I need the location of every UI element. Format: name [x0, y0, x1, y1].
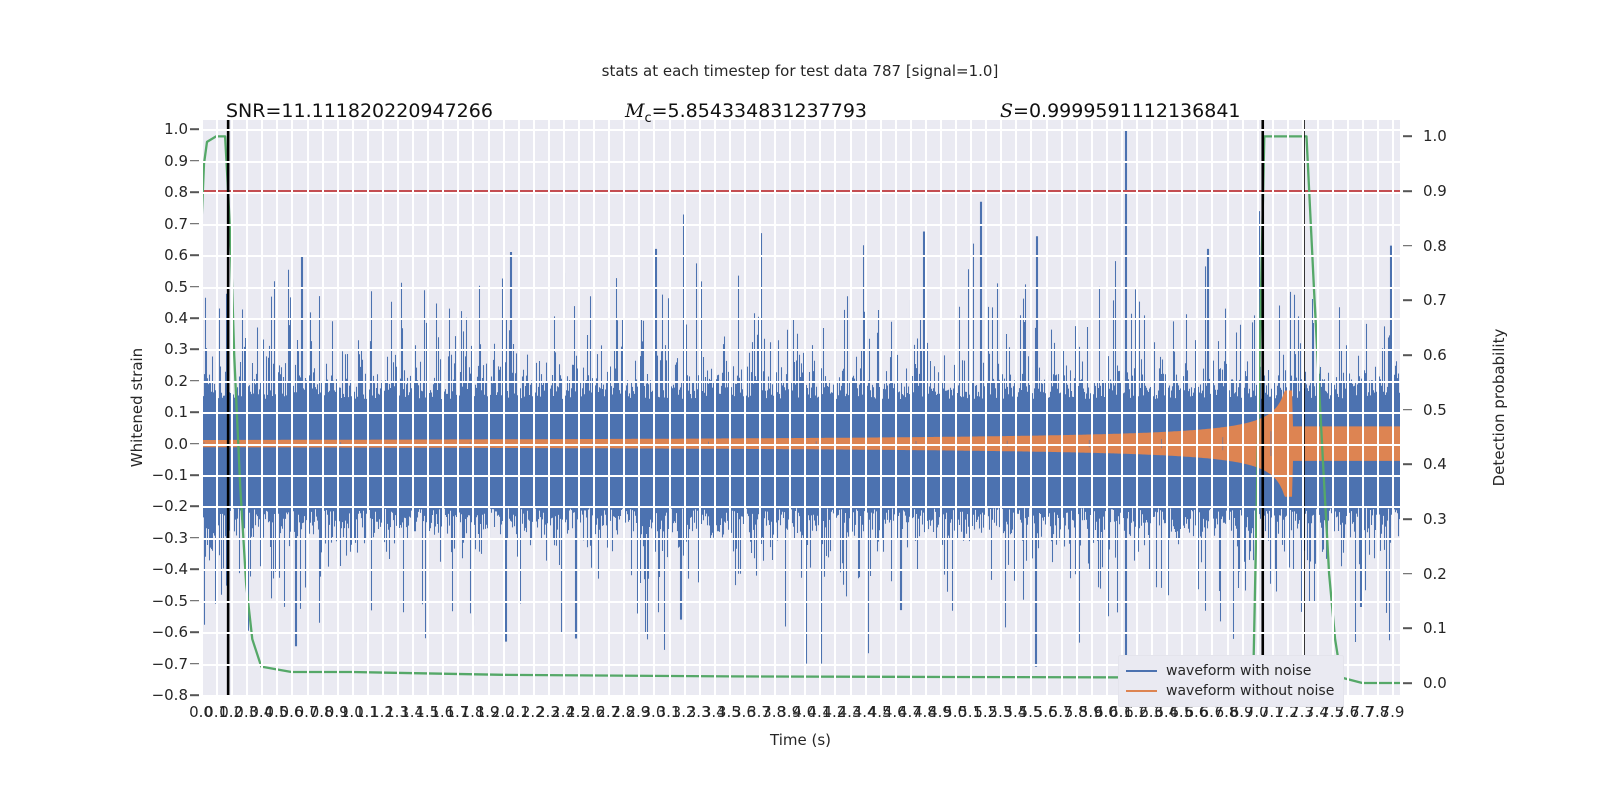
gridline-horizontal-15 [201, 601, 1400, 603]
gridline-vertical-44 [865, 120, 867, 695]
y-tick-left-mark-15 [190, 600, 199, 602]
gridline-vertical-66 [1196, 120, 1198, 695]
gridline-vertical-7 [307, 120, 309, 695]
y-tick-right-mark-2 [1403, 245, 1412, 247]
gridline-vertical-27 [608, 120, 610, 695]
gridline-horizontal-14 [201, 569, 1400, 571]
gridline-vertical-3 [246, 120, 248, 695]
plot-svg [201, 120, 1400, 695]
gridline-vertical-68 [1227, 120, 1229, 695]
gridline-vertical-38 [774, 120, 776, 695]
legend-item-1[interactable]: waveform without noise [1126, 681, 1334, 701]
gridline-vertical-25 [578, 120, 580, 695]
gridline-horizontal-13 [201, 538, 1400, 540]
y-tick-left-11: −0.1 [108, 466, 188, 484]
gridline-vertical-23 [548, 120, 550, 695]
gridline-vertical-79 [1392, 120, 1394, 695]
y-tick-left-13: −0.3 [108, 529, 188, 547]
gridline-horizontal-0 [201, 129, 1400, 131]
gridline-vertical-32 [684, 120, 686, 695]
gridline-vertical-73 [1302, 120, 1304, 695]
gridline-vertical-54 [1015, 120, 1017, 695]
gridline-vertical-45 [880, 120, 882, 695]
gridline-horizontal-9 [201, 412, 1400, 414]
annotation-score: S=0.9999591112136841 [1000, 100, 1241, 122]
y-tick-right-mark-10 [1403, 682, 1412, 684]
gridline-horizontal-5 [201, 287, 1400, 289]
y-tick-left-mark-12 [190, 506, 199, 508]
gridline-horizontal-3 [201, 224, 1400, 226]
gridline-horizontal-2 [201, 192, 1400, 194]
gridline-horizontal-8 [201, 381, 1400, 383]
annotation-chirp-mass-value: =5.854334831237793 [652, 100, 867, 122]
gridline-vertical-69 [1242, 120, 1244, 695]
y-tick-left-3: 0.7 [108, 215, 188, 233]
gridline-vertical-72 [1287, 120, 1289, 695]
y-tick-left-mark-5 [190, 286, 199, 288]
gridline-vertical-33 [699, 120, 701, 695]
gridline-vertical-65 [1181, 120, 1183, 695]
y-tick-left-16: −0.6 [108, 623, 188, 641]
gridline-vertical-55 [1030, 120, 1032, 695]
gridline-horizontal-6 [201, 318, 1400, 320]
gridline-vertical-74 [1317, 120, 1319, 695]
gridline-vertical-71 [1272, 120, 1274, 695]
gridline-vertical-56 [1046, 120, 1048, 695]
y-tick-left-14: −0.4 [108, 560, 188, 578]
annotation-score-symbol: S [1000, 100, 1013, 122]
gridline-vertical-35 [729, 120, 731, 695]
gridline-vertical-53 [1000, 120, 1002, 695]
y-tick-left-mark-1 [190, 160, 199, 162]
x-axis-label: Time (s) [201, 731, 1400, 749]
gridline-vertical-11 [367, 120, 369, 695]
y-tick-left-mark-18 [190, 694, 199, 696]
gridline-vertical-21 [518, 120, 520, 695]
y-tick-left-10: 0.0 [108, 435, 188, 453]
gridline-vertical-39 [789, 120, 791, 695]
figure-canvas: stats at each timestep for test data 787… [0, 0, 1600, 800]
x-tick-79: 7.9 [1381, 703, 1405, 721]
gridline-vertical-62 [1136, 120, 1138, 695]
annotation-chirp-mass-subscript: c [644, 111, 651, 126]
gridline-vertical-78 [1377, 120, 1379, 695]
y-tick-left-mark-7 [190, 349, 199, 351]
annotation-chirp-mass: Mc=5.854334831237793 [625, 100, 867, 126]
gridline-vertical-49 [940, 120, 942, 695]
gridline-vertical-12 [382, 120, 384, 695]
gridline-vertical-59 [1091, 120, 1093, 695]
gridline-vertical-42 [834, 120, 836, 695]
y-tick-right-mark-5 [1403, 409, 1412, 411]
gridline-vertical-29 [638, 120, 640, 695]
gridline-vertical-20 [503, 120, 505, 695]
y-axis-left-label: Whitened strain [128, 120, 146, 695]
legend-label-1: waveform without noise [1166, 683, 1334, 699]
annotation-snr: SNR=11.111820220947266 [226, 100, 493, 122]
y-tick-left-1: 0.9 [108, 152, 188, 170]
y-tick-left-2: 0.8 [108, 183, 188, 201]
legend-swatch-0 [1126, 670, 1157, 672]
gridline-vertical-51 [970, 120, 972, 695]
series-waveform-with-noise [201, 129, 1400, 668]
gridline-vertical-47 [910, 120, 912, 695]
y-tick-left-mark-10 [190, 443, 199, 445]
gridline-vertical-40 [804, 120, 806, 695]
gridline-vertical-48 [925, 120, 927, 695]
gridline-vertical-13 [397, 120, 399, 695]
gridline-vertical-67 [1211, 120, 1213, 695]
y-tick-right-mark-9 [1403, 628, 1412, 630]
gridline-vertical-6 [291, 120, 293, 695]
y-tick-left-mark-8 [190, 380, 199, 382]
gridline-vertical-41 [819, 120, 821, 695]
gridline-vertical-26 [593, 120, 595, 695]
gridline-vertical-31 [669, 120, 671, 695]
y-tick-left-8: 0.2 [108, 372, 188, 390]
gridline-horizontal-12 [201, 506, 1400, 508]
y-tick-right-mark-6 [1403, 464, 1412, 466]
y-tick-left-mark-6 [190, 317, 199, 319]
gridline-horizontal-16 [201, 632, 1400, 634]
gridline-vertical-10 [352, 120, 354, 695]
y-tick-right-mark-1 [1403, 190, 1412, 192]
y-tick-left-mark-17 [190, 663, 199, 665]
gridline-vertical-76 [1347, 120, 1349, 695]
y-tick-left-15: −0.5 [108, 592, 188, 610]
y-tick-left-mark-3 [190, 223, 199, 225]
gridline-vertical-8 [322, 120, 324, 695]
y-tick-left-mark-0 [190, 129, 199, 131]
y-tick-left-0: 1.0 [108, 120, 188, 138]
legend[interactable]: waveform with noisewaveform without nois… [1118, 655, 1344, 707]
annotation-chirp-mass-symbol: M [625, 100, 644, 122]
gridline-vertical-52 [985, 120, 987, 695]
gridline-vertical-14 [412, 120, 414, 695]
gridline-horizontal-4 [201, 255, 1400, 257]
y-tick-right-mark-0 [1403, 136, 1412, 138]
y-tick-right-mark-7 [1403, 518, 1412, 520]
y-tick-left-mark-16 [190, 631, 199, 633]
y-tick-right-mark-4 [1403, 354, 1412, 356]
y-axis-right-label: Detection probability [1490, 120, 1508, 695]
gridline-vertical-70 [1257, 120, 1259, 695]
y-tick-right-mark-8 [1403, 573, 1412, 575]
gridline-vertical-50 [955, 120, 957, 695]
gridline-vertical-63 [1151, 120, 1153, 695]
gridline-horizontal-1 [201, 161, 1400, 163]
y-tick-left-mark-11 [190, 474, 199, 476]
gridline-vertical-75 [1332, 120, 1334, 695]
gridline-vertical-36 [744, 120, 746, 695]
y-tick-left-mark-9 [190, 411, 199, 413]
gridline-vertical-34 [714, 120, 716, 695]
y-tick-left-7: 0.3 [108, 340, 188, 358]
gridline-vertical-1 [216, 120, 218, 695]
y-tick-left-18: −0.8 [108, 686, 188, 704]
y-tick-left-5: 0.5 [108, 278, 188, 296]
gridline-vertical-17 [457, 120, 459, 695]
gridline-vertical-2 [231, 120, 233, 695]
y-tick-left-12: −0.2 [108, 497, 188, 515]
legend-item-0[interactable]: waveform with noise [1126, 661, 1334, 681]
gridline-vertical-5 [276, 120, 278, 695]
y-tick-left-17: −0.7 [108, 655, 188, 673]
gridline-vertical-4 [261, 120, 263, 695]
plot-area [201, 120, 1400, 695]
gridline-vertical-9 [337, 120, 339, 695]
y-tick-left-mark-13 [190, 537, 199, 539]
gridline-vertical-30 [653, 120, 655, 695]
gridline-vertical-18 [472, 120, 474, 695]
gridline-vertical-28 [623, 120, 625, 695]
gridline-horizontal-11 [201, 475, 1400, 477]
y-tick-right-mark-3 [1403, 300, 1412, 302]
gridline-vertical-22 [533, 120, 535, 695]
gridline-vertical-37 [759, 120, 761, 695]
gridline-vertical-0 [201, 120, 203, 695]
chart-title: stats at each timestep for test data 787… [0, 62, 1600, 80]
gridline-vertical-57 [1061, 120, 1063, 695]
gridline-vertical-77 [1362, 120, 1364, 695]
annotation-score-value: =0.9999591112136841 [1013, 100, 1240, 122]
y-tick-left-6: 0.4 [108, 309, 188, 327]
y-tick-left-mark-2 [190, 191, 199, 193]
gridline-vertical-60 [1106, 120, 1108, 695]
gridline-vertical-19 [488, 120, 490, 695]
gridline-vertical-58 [1076, 120, 1078, 695]
gridline-vertical-24 [563, 120, 565, 695]
y-tick-left-4: 0.6 [108, 246, 188, 264]
y-tick-left-mark-4 [190, 254, 199, 256]
gridline-vertical-46 [895, 120, 897, 695]
y-tick-left-9: 0.1 [108, 403, 188, 421]
legend-swatch-1 [1126, 690, 1157, 692]
gridline-vertical-61 [1121, 120, 1123, 695]
gridline-horizontal-10 [201, 444, 1400, 446]
gridline-vertical-64 [1166, 120, 1168, 695]
gridline-horizontal-7 [201, 349, 1400, 351]
gridline-vertical-16 [442, 120, 444, 695]
y-tick-left-mark-14 [190, 569, 199, 571]
gridline-vertical-43 [850, 120, 852, 695]
gridline-vertical-15 [427, 120, 429, 695]
legend-label-0: waveform with noise [1166, 663, 1311, 679]
